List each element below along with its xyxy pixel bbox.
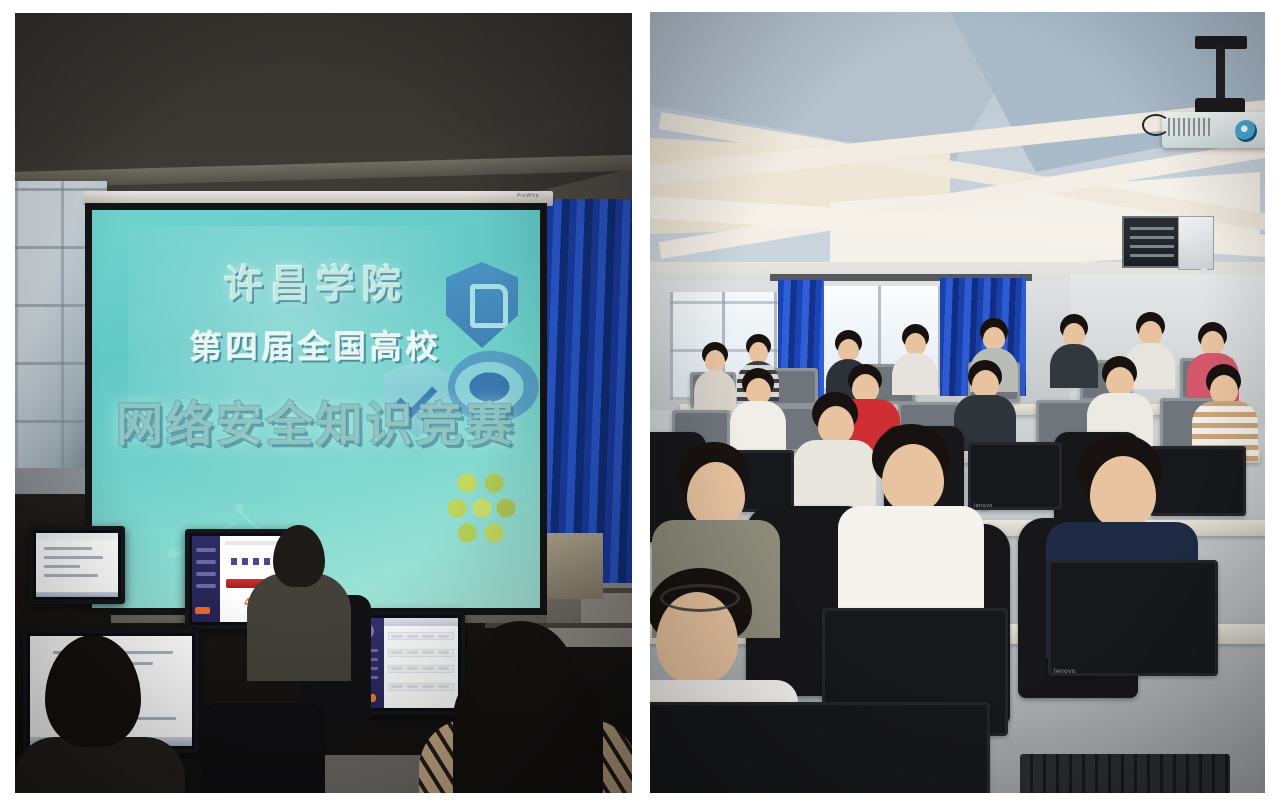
monitor-far-left [29,526,125,604]
lab-monitor-foreground: lenovo [650,702,990,793]
wall-control-box [1122,216,1180,268]
slide-title-event: 网络安全知识竞赛 [92,386,540,455]
monitor-screen [36,533,118,597]
keyboard[interactable] [1020,754,1230,793]
wood-cabinet-left [539,533,603,599]
wall-control-box-door[interactable] [1178,216,1214,270]
projector-lens [1235,120,1257,142]
screen-brand-label: ProWite [517,193,539,199]
student-woman-ponytail-body [247,573,351,681]
lab-monitor-front-right: lenovo [1048,560,1218,676]
slide-title-block: 许昌学院 第四届全国高校 网络安全知识竞赛 [92,254,540,455]
eyeglasses-icon [660,584,740,612]
slide-title-university: 许昌学院 [92,254,540,310]
lab-monitor [1150,446,1246,516]
taskbar [36,592,118,597]
left-photo-lecture-room: ProWite 许昌学院 第四届全国高校 网络安全知识竞赛 [15,13,632,793]
right-photo-computer-lab: lenovo [650,12,1265,793]
slide-title-edition: 第四届全国高校 [92,322,540,368]
quiz-form-content [384,618,458,708]
quiz-submit-button[interactable] [195,607,210,615]
quiz-sidebar[interactable] [192,536,220,622]
monitor-brand-label: lenovo [1054,668,1076,675]
projector-pole [1216,46,1225,102]
lab-monitor: lenovo [968,442,1062,510]
projector-vent [1168,118,1212,136]
photo-composite: ProWite 许昌学院 第四届全国高校 网络安全知识竞赛 [0,0,1280,800]
browser-tab-bar[interactable] [384,618,458,626]
projector-cable [1142,114,1170,136]
office-chair [201,703,325,793]
monitor-brand-label: lenovo [974,503,993,509]
